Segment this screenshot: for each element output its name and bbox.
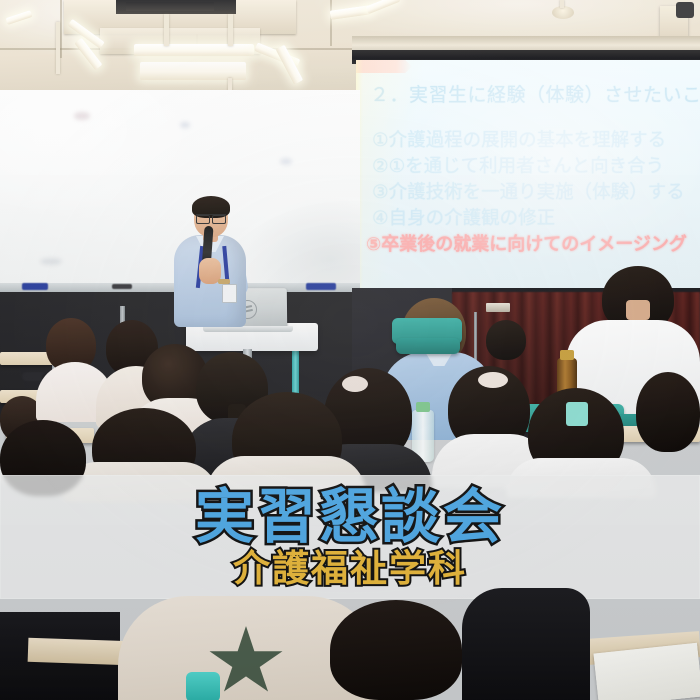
id-badge	[222, 284, 237, 303]
slide-item-5-highlight: ⑤卒業後の就業に向けてのイメージング	[366, 230, 687, 256]
whiteboard-smudge	[280, 158, 292, 165]
ceiling-grid-line	[330, 0, 332, 46]
lecture-hall-photo: ２．実習生に経験（体験）させたいこと ①介護過程の展開の基本を理解する ②①を通…	[0, 0, 700, 700]
foreground-person-head	[330, 600, 462, 700]
fluorescent-tube	[134, 44, 254, 56]
whiteboard-marker	[22, 283, 48, 290]
slide-item-3: ③介護技術を一通り実施（体験）する	[372, 178, 685, 204]
hair-clip	[566, 402, 588, 426]
whiteboard-eraser	[112, 284, 132, 289]
ceiling-hanger	[228, 14, 233, 46]
wristwatch	[218, 279, 230, 284]
banner-title: 実習懇談会	[195, 487, 505, 546]
foreground-person-dark	[462, 588, 590, 700]
projector-mount-icon	[676, 2, 694, 18]
audience-head	[636, 372, 700, 452]
whiteboard-marker	[306, 283, 336, 290]
bottle-cap	[560, 350, 574, 360]
chair	[396, 338, 460, 354]
slide-item-1: ①介護過程の展開の基本を理解する	[372, 126, 666, 152]
hair-bow	[478, 372, 508, 388]
projector-screen: ２．実習生に経験（体験）させたいこと ①介護過程の展開の基本を理解する ②①を通…	[356, 60, 700, 288]
handout-paper	[593, 643, 700, 700]
audience-head	[486, 320, 526, 360]
ceiling-hanger	[164, 14, 169, 46]
banner-subtitle: 介護福祉学科	[233, 550, 467, 587]
title-banner: 実習懇談会 介護福祉学科	[0, 475, 700, 599]
ceiling-hanger	[56, 22, 60, 74]
hair-bow	[342, 376, 368, 392]
whiteboard-smudge	[180, 122, 190, 128]
ceiling-hanger	[560, 0, 564, 8]
slide-marker-arrow	[356, 60, 412, 73]
wall-speaker-icon	[486, 303, 510, 312]
whiteboard-smudge	[40, 258, 62, 265]
bottle-cap	[416, 402, 430, 412]
slide-item-4: ④自身の介護観の修正	[372, 204, 555, 230]
slide-heading: ２．実習生に経験（体験）させたいこと	[370, 80, 700, 107]
audience-neck	[626, 300, 650, 320]
teal-water-bottle	[186, 672, 220, 700]
ceiling-vent	[126, 2, 214, 11]
eyeglasses-icon	[196, 214, 226, 223]
slide-item-2: ②①を通じて利用者さんと向き合う	[372, 152, 664, 178]
whiteboard-smudge	[74, 112, 90, 120]
